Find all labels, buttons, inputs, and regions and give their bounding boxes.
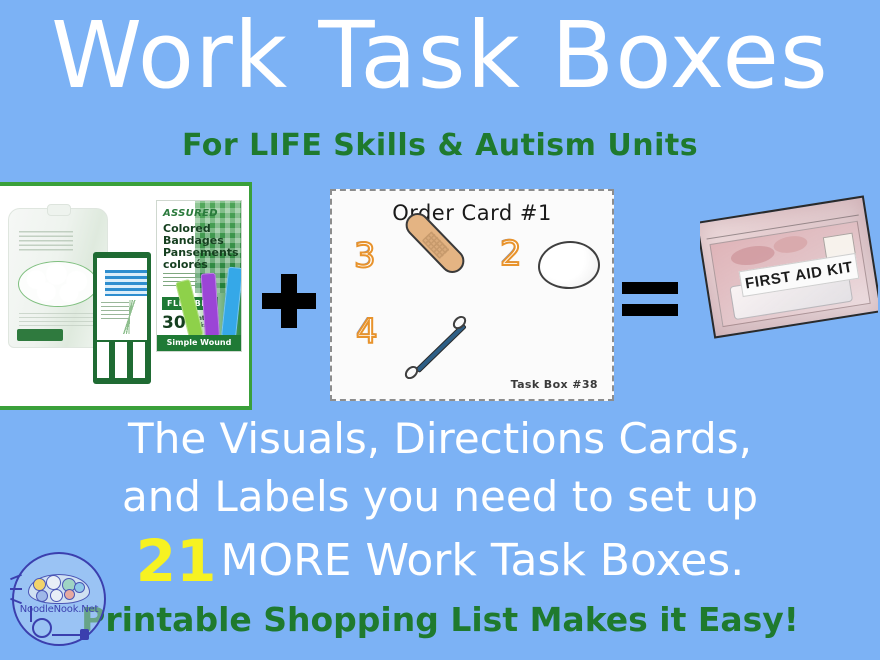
bandage-line1: Colored [163,223,211,235]
logo-name: NoodleNook.Net [16,604,102,615]
bag-text-lines [19,231,73,253]
cotton-swab-icon [402,309,478,385]
equation-row: ASSURED Colored Bandages Pansements colo… [0,182,880,410]
box-count-text: MORE Work Task Boxes. [220,535,744,586]
page-subtitle: For LIFE Skills & Autism Units [0,128,880,163]
plug-icon [80,629,89,640]
body-line-4: Printable Shopping List Makes it Easy! [0,600,880,639]
body-line-2: and Labels you need to set up [0,472,880,521]
bandage-strip-art [189,259,239,337]
bandage-footer: Simple Wound Care [157,335,241,351]
gear-icon [64,589,75,600]
bag-footer-band [17,329,63,341]
order-card-title: Order Card #1 [332,201,612,225]
noodlenook-logo: NoodleNook.Net [6,548,110,652]
contents-item-2 [772,234,808,255]
page-title: Work Task Boxes [0,8,880,105]
bandage-count-number: 30 [162,313,186,333]
equals-icon [622,282,678,318]
lightbulb-icon [32,618,52,638]
logo-cord [52,634,82,636]
cotton-ball-icon [538,241,600,289]
bag-window [18,261,98,307]
bag-fineprint [19,313,97,329]
body-line-3: 21MORE Work Task Boxes. [0,527,880,595]
cotton-swabs-pack-icon [93,252,151,384]
swab-tip-top [450,313,468,331]
first-aid-kit-photo: FIRST AID KIT [700,194,878,352]
gear-icon [50,589,63,602]
order-card-quantity-3: 4 [356,315,378,349]
order-card: Order Card #1 3 2 4 Task Box #38 [330,189,614,401]
order-card-quantity-2: 2 [500,237,522,271]
bandage-box-icon: ASSURED Colored Bandages Pansements colo… [156,200,242,352]
gear-icon [74,582,85,593]
gear-icon [36,590,48,602]
gear-icon [46,575,61,590]
supplies-photo: ASSURED Colored Bandages Pansements colo… [0,182,252,410]
swab-stick [415,323,467,373]
swabpack-front [97,258,147,340]
order-card-footer: Task Box #38 [511,378,598,391]
bandage-line2: Bandages [163,235,224,247]
box-count-number: 21 [136,527,217,595]
plus-icon [262,274,316,328]
swabpack-stripes [105,270,147,296]
swabpack-swab-art [117,300,143,334]
order-card-quantity-1: 3 [354,239,376,273]
bandage-line3: Pansements [163,247,239,259]
logo-rays-icon [10,574,28,608]
bandage-brand: ASSURED [163,208,218,219]
body-line-1: The Visuals, Directions Cards, [0,414,880,463]
poster-canvas: Work Task Boxes For LIFE Skills & Autism… [0,0,880,660]
swabpack-bottom-grid [97,342,147,378]
contents-item-1 [730,243,776,268]
gear-icon [33,578,46,591]
